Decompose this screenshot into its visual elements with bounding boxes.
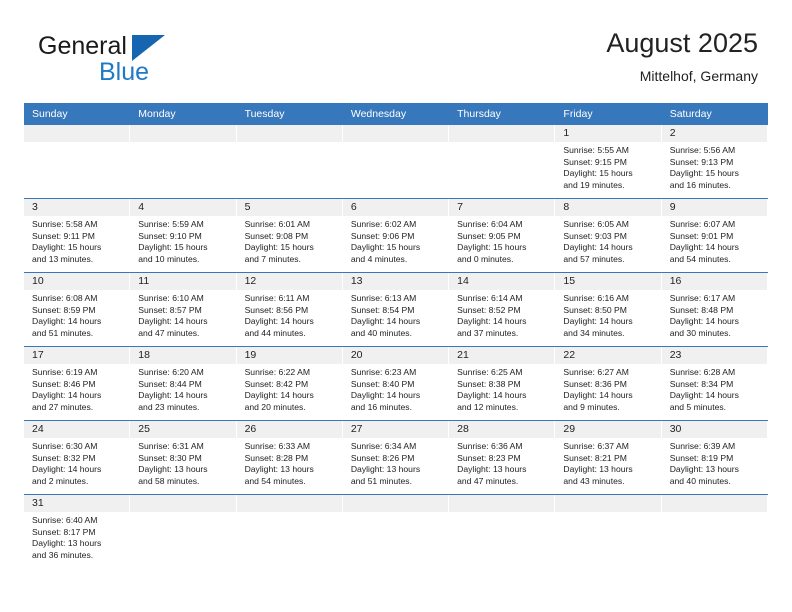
day-cell[interactable]: 11Sunrise: 6:10 AMSunset: 8:57 PMDayligh…: [130, 273, 236, 347]
daylight-text-line2: and 0 minutes.: [457, 254, 549, 266]
sunset-text: Sunset: 8:54 PM: [351, 305, 443, 317]
sunrise-text: Sunrise: 6:28 AM: [670, 367, 762, 379]
sunrise-text: Sunrise: 6:13 AM: [351, 293, 443, 305]
daylight-text-line2: and 2 minutes.: [32, 476, 124, 488]
day-number: 9: [662, 199, 768, 216]
day-cell[interactable]: 3Sunrise: 5:58 AMSunset: 9:11 PMDaylight…: [24, 199, 130, 273]
day-number: 24: [24, 421, 130, 438]
day-number: 30: [662, 421, 768, 438]
sunrise-text: Sunrise: 5:55 AM: [563, 145, 655, 157]
daylight-text-line1: Daylight: 14 hours: [670, 390, 762, 402]
sunrise-text: Sunrise: 6:20 AM: [138, 367, 230, 379]
sunset-text: Sunset: 8:46 PM: [32, 379, 124, 391]
day-cell[interactable]: 28Sunrise: 6:36 AMSunset: 8:23 PMDayligh…: [449, 421, 555, 495]
sunset-text: Sunset: 8:42 PM: [245, 379, 337, 391]
day-number: [449, 495, 555, 512]
daylight-text-line2: and 19 minutes.: [563, 180, 655, 192]
sunset-text: Sunset: 9:03 PM: [563, 231, 655, 243]
day-number: [237, 125, 343, 142]
day-cell[interactable]: [237, 125, 343, 199]
sunset-text: Sunset: 8:34 PM: [670, 379, 762, 391]
sunset-text: Sunset: 9:11 PM: [32, 231, 124, 243]
sunset-text: Sunset: 8:57 PM: [138, 305, 230, 317]
sunrise-text: Sunrise: 6:14 AM: [457, 293, 549, 305]
daylight-text-line1: Daylight: 13 hours: [351, 464, 443, 476]
daylight-text-line1: Daylight: 15 hours: [351, 242, 443, 254]
day-number: 7: [449, 199, 555, 216]
sunset-text: Sunset: 8:36 PM: [563, 379, 655, 391]
page-header: General Blue August 2025 Mittelhof, Germ…: [24, 26, 768, 100]
logo-text-general: General: [38, 32, 127, 61]
day-cell[interactable]: 15Sunrise: 6:16 AMSunset: 8:50 PMDayligh…: [555, 273, 661, 347]
day-number: [343, 125, 449, 142]
sunset-text: Sunset: 8:38 PM: [457, 379, 549, 391]
day-number: 4: [130, 199, 236, 216]
day-cell[interactable]: 14Sunrise: 6:14 AMSunset: 8:52 PMDayligh…: [449, 273, 555, 347]
sunset-text: Sunset: 8:50 PM: [563, 305, 655, 317]
day-number: 8: [555, 199, 661, 216]
daylight-text-line2: and 13 minutes.: [32, 254, 124, 266]
daylight-text-line1: Daylight: 14 hours: [457, 316, 549, 328]
day-cell[interactable]: 10Sunrise: 6:08 AMSunset: 8:59 PMDayligh…: [24, 273, 130, 347]
day-cell[interactable]: [130, 495, 236, 569]
day-cell[interactable]: 20Sunrise: 6:23 AMSunset: 8:40 PMDayligh…: [343, 347, 449, 421]
daylight-text-line1: Daylight: 15 hours: [245, 242, 337, 254]
sunset-text: Sunset: 8:59 PM: [32, 305, 124, 317]
day-number: 18: [130, 347, 236, 364]
day-cell[interactable]: 24Sunrise: 6:30 AMSunset: 8:32 PMDayligh…: [24, 421, 130, 495]
daylight-text-line2: and 57 minutes.: [563, 254, 655, 266]
day-cell[interactable]: 23Sunrise: 6:28 AMSunset: 8:34 PMDayligh…: [662, 347, 768, 421]
day-number: 23: [662, 347, 768, 364]
page-title: August 2025: [606, 26, 758, 60]
weekday-header-wednesday: Wednesday: [343, 103, 449, 125]
sunset-text: Sunset: 8:44 PM: [138, 379, 230, 391]
week-row: 24Sunrise: 6:30 AMSunset: 8:32 PMDayligh…: [24, 421, 768, 495]
day-number: 29: [555, 421, 661, 438]
daylight-text-line2: and 54 minutes.: [245, 476, 337, 488]
day-number: 5: [237, 199, 343, 216]
daylight-text-line2: and 5 minutes.: [670, 402, 762, 414]
day-cell[interactable]: 2Sunrise: 5:56 AMSunset: 9:13 PMDaylight…: [662, 125, 768, 199]
day-number: 26: [237, 421, 343, 438]
day-number: 25: [130, 421, 236, 438]
daylight-text-line2: and 16 minutes.: [670, 180, 762, 192]
sunset-text: Sunset: 9:06 PM: [351, 231, 443, 243]
day-cell[interactable]: [237, 495, 343, 569]
weekday-header-friday: Friday: [555, 103, 661, 125]
daylight-text-line2: and 30 minutes.: [670, 328, 762, 340]
day-number: [449, 125, 555, 142]
sunrise-text: Sunrise: 5:58 AM: [32, 219, 124, 231]
day-cell[interactable]: 29Sunrise: 6:37 AMSunset: 8:21 PMDayligh…: [555, 421, 661, 495]
daylight-text-line2: and 44 minutes.: [245, 328, 337, 340]
sunrise-text: Sunrise: 6:36 AM: [457, 441, 549, 453]
daylight-text-line2: and 58 minutes.: [138, 476, 230, 488]
day-cell[interactable]: 19Sunrise: 6:22 AMSunset: 8:42 PMDayligh…: [237, 347, 343, 421]
day-cell[interactable]: 27Sunrise: 6:34 AMSunset: 8:26 PMDayligh…: [343, 421, 449, 495]
day-cell[interactable]: [449, 495, 555, 569]
day-cell[interactable]: 5Sunrise: 6:01 AMSunset: 9:08 PMDaylight…: [237, 199, 343, 273]
daylight-text-line2: and 51 minutes.: [351, 476, 443, 488]
sunrise-text: Sunrise: 6:04 AM: [457, 219, 549, 231]
sunrise-text: Sunrise: 6:22 AM: [245, 367, 337, 379]
daylight-text-line2: and 12 minutes.: [457, 402, 549, 414]
weekday-header-tuesday: Tuesday: [237, 103, 343, 125]
sunrise-text: Sunrise: 6:30 AM: [32, 441, 124, 453]
sunrise-text: Sunrise: 5:56 AM: [670, 145, 762, 157]
sunset-text: Sunset: 8:32 PM: [32, 453, 124, 465]
sunset-text: Sunset: 9:08 PM: [245, 231, 337, 243]
sunset-text: Sunset: 8:40 PM: [351, 379, 443, 391]
day-number: 16: [662, 273, 768, 290]
daylight-text-line2: and 40 minutes.: [670, 476, 762, 488]
daylight-text-line2: and 54 minutes.: [670, 254, 762, 266]
daylight-text-line1: Daylight: 13 hours: [457, 464, 549, 476]
daylight-text-line1: Daylight: 13 hours: [670, 464, 762, 476]
day-cell[interactable]: 9Sunrise: 6:07 AMSunset: 9:01 PMDaylight…: [662, 199, 768, 273]
day-cell[interactable]: 25Sunrise: 6:31 AMSunset: 8:30 PMDayligh…: [130, 421, 236, 495]
sunset-text: Sunset: 8:48 PM: [670, 305, 762, 317]
daylight-text-line1: Daylight: 13 hours: [245, 464, 337, 476]
week-row: 31Sunrise: 6:40 AMSunset: 8:17 PMDayligh…: [24, 495, 768, 569]
sunrise-text: Sunrise: 6:11 AM: [245, 293, 337, 305]
daylight-text-line1: Daylight: 14 hours: [351, 390, 443, 402]
daylight-text-line1: Daylight: 14 hours: [563, 390, 655, 402]
day-number: 1: [555, 125, 661, 142]
weekday-header-row: Sunday Monday Tuesday Wednesday Thursday…: [24, 103, 768, 125]
daylight-text-line1: Daylight: 14 hours: [245, 316, 337, 328]
sunset-text: Sunset: 8:52 PM: [457, 305, 549, 317]
daylight-text-line2: and 10 minutes.: [138, 254, 230, 266]
daylight-text-line1: Daylight: 14 hours: [32, 464, 124, 476]
daylight-text-line1: Daylight: 15 hours: [138, 242, 230, 254]
daylight-text-line2: and 23 minutes.: [138, 402, 230, 414]
day-cell[interactable]: 4Sunrise: 5:59 AMSunset: 9:10 PMDaylight…: [130, 199, 236, 273]
daylight-text-line2: and 4 minutes.: [351, 254, 443, 266]
daylight-text-line1: Daylight: 13 hours: [32, 538, 124, 550]
week-row: 3Sunrise: 5:58 AMSunset: 9:11 PMDaylight…: [24, 199, 768, 273]
day-number: 11: [130, 273, 236, 290]
day-number: 2: [662, 125, 768, 142]
day-number: [130, 495, 236, 512]
daylight-text-line1: Daylight: 14 hours: [138, 390, 230, 402]
daylight-text-line2: and 34 minutes.: [563, 328, 655, 340]
sunrise-text: Sunrise: 6:33 AM: [245, 441, 337, 453]
daylight-text-line1: Daylight: 14 hours: [32, 316, 124, 328]
sunrise-text: Sunrise: 6:37 AM: [563, 441, 655, 453]
day-cell[interactable]: 12Sunrise: 6:11 AMSunset: 8:56 PMDayligh…: [237, 273, 343, 347]
day-cell[interactable]: 17Sunrise: 6:19 AMSunset: 8:46 PMDayligh…: [24, 347, 130, 421]
day-cell[interactable]: 21Sunrise: 6:25 AMSunset: 8:38 PMDayligh…: [449, 347, 555, 421]
weekday-header-thursday: Thursday: [449, 103, 555, 125]
day-cell[interactable]: [343, 125, 449, 199]
sunset-text: Sunset: 9:13 PM: [670, 157, 762, 169]
day-number: 27: [343, 421, 449, 438]
day-cell[interactable]: [24, 125, 130, 199]
day-number: 21: [449, 347, 555, 364]
daylight-text-line2: and 9 minutes.: [563, 402, 655, 414]
day-number: [343, 495, 449, 512]
day-number: 3: [24, 199, 130, 216]
daylight-text-line1: Daylight: 15 hours: [563, 168, 655, 180]
calendar-body: 1Sunrise: 5:55 AMSunset: 9:15 PMDaylight…: [24, 125, 768, 568]
week-row: 1Sunrise: 5:55 AMSunset: 9:15 PMDaylight…: [24, 125, 768, 199]
day-cell[interactable]: 22Sunrise: 6:27 AMSunset: 8:36 PMDayligh…: [555, 347, 661, 421]
weekday-header-sunday: Sunday: [24, 103, 130, 125]
title-block: August 2025 Mittelhof, Germany: [606, 26, 758, 86]
sunset-text: Sunset: 8:23 PM: [457, 453, 549, 465]
day-cell[interactable]: 8Sunrise: 6:05 AMSunset: 9:03 PMDaylight…: [555, 199, 661, 273]
sunrise-text: Sunrise: 6:16 AM: [563, 293, 655, 305]
day-number: [555, 495, 661, 512]
logo-text-blue: Blue: [99, 58, 149, 87]
sunset-text: Sunset: 9:05 PM: [457, 231, 549, 243]
daylight-text-line1: Daylight: 15 hours: [457, 242, 549, 254]
sunset-text: Sunset: 9:15 PM: [563, 157, 655, 169]
day-number: 15: [555, 273, 661, 290]
daylight-text-line1: Daylight: 14 hours: [245, 390, 337, 402]
daylight-text-line2: and 37 minutes.: [457, 328, 549, 340]
sunrise-text: Sunrise: 5:59 AM: [138, 219, 230, 231]
day-number: [130, 125, 236, 142]
daylight-text-line1: Daylight: 14 hours: [563, 242, 655, 254]
daylight-text-line1: Daylight: 14 hours: [138, 316, 230, 328]
sunrise-text: Sunrise: 6:01 AM: [245, 219, 337, 231]
sunset-text: Sunset: 8:30 PM: [138, 453, 230, 465]
day-number: 10: [24, 273, 130, 290]
day-number: 6: [343, 199, 449, 216]
calendar-table: Sunday Monday Tuesday Wednesday Thursday…: [24, 103, 768, 568]
day-cell[interactable]: 31Sunrise: 6:40 AMSunset: 8:17 PMDayligh…: [24, 495, 130, 569]
sunrise-text: Sunrise: 6:34 AM: [351, 441, 443, 453]
sunrise-text: Sunrise: 6:40 AM: [32, 515, 124, 527]
daylight-text-line2: and 27 minutes.: [32, 402, 124, 414]
sunset-text: Sunset: 9:01 PM: [670, 231, 762, 243]
day-cell[interactable]: [555, 495, 661, 569]
sunset-text: Sunset: 8:17 PM: [32, 527, 124, 539]
page-subtitle: Mittelhof, Germany: [606, 66, 758, 86]
day-cell[interactable]: 30Sunrise: 6:39 AMSunset: 8:19 PMDayligh…: [662, 421, 768, 495]
daylight-text-line2: and 7 minutes.: [245, 254, 337, 266]
day-number: 13: [343, 273, 449, 290]
sunrise-text: Sunrise: 6:10 AM: [138, 293, 230, 305]
daylight-text-line2: and 47 minutes.: [138, 328, 230, 340]
sunrise-text: Sunrise: 6:05 AM: [563, 219, 655, 231]
day-number: [662, 495, 768, 512]
day-cell[interactable]: 6Sunrise: 6:02 AMSunset: 9:06 PMDaylight…: [343, 199, 449, 273]
daylight-text-line2: and 36 minutes.: [32, 550, 124, 562]
weekday-header-monday: Monday: [130, 103, 236, 125]
calendar-page: General Blue August 2025 Mittelhof, Germ…: [0, 0, 792, 612]
daylight-text-line1: Daylight: 15 hours: [32, 242, 124, 254]
daylight-text-line2: and 16 minutes.: [351, 402, 443, 414]
daylight-text-line2: and 47 minutes.: [457, 476, 549, 488]
day-number: 22: [555, 347, 661, 364]
daylight-text-line1: Daylight: 14 hours: [351, 316, 443, 328]
day-cell[interactable]: 7Sunrise: 6:04 AMSunset: 9:05 PMDaylight…: [449, 199, 555, 273]
sunset-text: Sunset: 8:19 PM: [670, 453, 762, 465]
daylight-text-line1: Daylight: 14 hours: [670, 316, 762, 328]
day-cell[interactable]: [343, 495, 449, 569]
daylight-text-line1: Daylight: 14 hours: [563, 316, 655, 328]
day-number: 31: [24, 495, 130, 512]
sunset-text: Sunset: 9:10 PM: [138, 231, 230, 243]
sunrise-text: Sunrise: 6:19 AM: [32, 367, 124, 379]
day-number: 17: [24, 347, 130, 364]
daylight-text-line2: and 20 minutes.: [245, 402, 337, 414]
day-number: 28: [449, 421, 555, 438]
general-blue-logo[interactable]: General Blue: [38, 32, 268, 94]
day-cell[interactable]: 26Sunrise: 6:33 AMSunset: 8:28 PMDayligh…: [237, 421, 343, 495]
week-row: 10Sunrise: 6:08 AMSunset: 8:59 PMDayligh…: [24, 273, 768, 347]
daylight-text-line2: and 51 minutes.: [32, 328, 124, 340]
day-number: 20: [343, 347, 449, 364]
weekday-header-saturday: Saturday: [662, 103, 768, 125]
day-cell[interactable]: 16Sunrise: 6:17 AMSunset: 8:48 PMDayligh…: [662, 273, 768, 347]
sunrise-text: Sunrise: 6:31 AM: [138, 441, 230, 453]
sunrise-text: Sunrise: 6:07 AM: [670, 219, 762, 231]
day-cell[interactable]: 13Sunrise: 6:13 AMSunset: 8:54 PMDayligh…: [343, 273, 449, 347]
daylight-text-line1: Daylight: 14 hours: [32, 390, 124, 402]
day-number: 14: [449, 273, 555, 290]
day-cell[interactable]: [449, 125, 555, 199]
day-cell[interactable]: [662, 495, 768, 569]
day-number: 12: [237, 273, 343, 290]
day-number: [24, 125, 130, 142]
day-number: [237, 495, 343, 512]
sunrise-text: Sunrise: 6:27 AM: [563, 367, 655, 379]
sunrise-text: Sunrise: 6:23 AM: [351, 367, 443, 379]
daylight-text-line2: and 43 minutes.: [563, 476, 655, 488]
daylight-text-line2: and 40 minutes.: [351, 328, 443, 340]
daylight-text-line1: Daylight: 15 hours: [670, 168, 762, 180]
sunset-text: Sunset: 8:26 PM: [351, 453, 443, 465]
day-cell[interactable]: [130, 125, 236, 199]
daylight-text-line1: Daylight: 13 hours: [563, 464, 655, 476]
sunrise-text: Sunrise: 6:08 AM: [32, 293, 124, 305]
sunset-text: Sunset: 8:28 PM: [245, 453, 337, 465]
sunset-text: Sunset: 8:21 PM: [563, 453, 655, 465]
sunrise-text: Sunrise: 6:39 AM: [670, 441, 762, 453]
sunset-text: Sunset: 8:56 PM: [245, 305, 337, 317]
day-number: 19: [237, 347, 343, 364]
daylight-text-line1: Daylight: 13 hours: [138, 464, 230, 476]
daylight-text-line1: Daylight: 14 hours: [457, 390, 549, 402]
day-cell[interactable]: 1Sunrise: 5:55 AMSunset: 9:15 PMDaylight…: [555, 125, 661, 199]
sunrise-text: Sunrise: 6:17 AM: [670, 293, 762, 305]
sunrise-text: Sunrise: 6:02 AM: [351, 219, 443, 231]
sunrise-text: Sunrise: 6:25 AM: [457, 367, 549, 379]
day-cell[interactable]: 18Sunrise: 6:20 AMSunset: 8:44 PMDayligh…: [130, 347, 236, 421]
daylight-text-line1: Daylight: 14 hours: [670, 242, 762, 254]
week-row: 17Sunrise: 6:19 AMSunset: 8:46 PMDayligh…: [24, 347, 768, 421]
